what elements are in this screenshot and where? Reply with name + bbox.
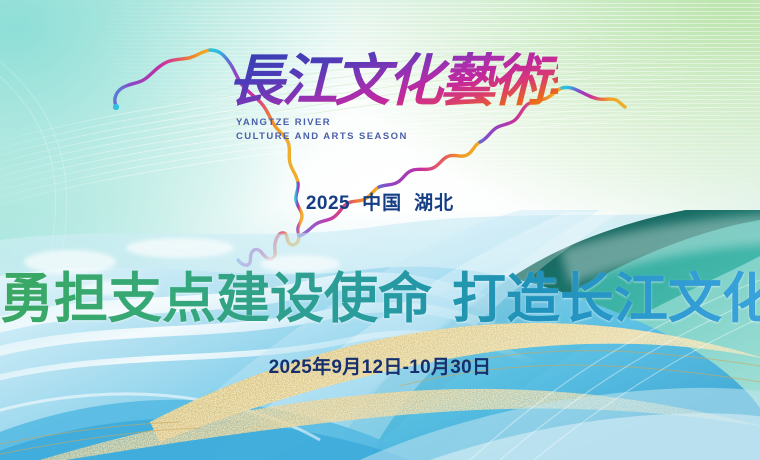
english-subtitle: YANGTZE RIVER CULTURE AND ARTS SEASON — [236, 116, 408, 144]
calligraphy-title-svg: 長江文化藝術季 — [228, 46, 558, 116]
date-range-label: 2025年9月12日-10月30日 — [0, 352, 760, 379]
headline-part-1: 勇担支点建设使命 — [0, 269, 432, 329]
poster-canvas: 長江文化藝術季 YANGTZE RIVER CULTURE AND ARTS S… — [0, 0, 760, 460]
wave-artwork — [0, 210, 760, 460]
calligraphy-text: 長江文化藝術季 — [228, 51, 558, 113]
calligraphy-title: 長江文化藝術季 — [228, 46, 558, 116]
page-title: 勇担支点建设使命打造长江文化高地 — [0, 268, 760, 330]
headline-part-2: 打造长江文化高地 — [452, 269, 760, 329]
